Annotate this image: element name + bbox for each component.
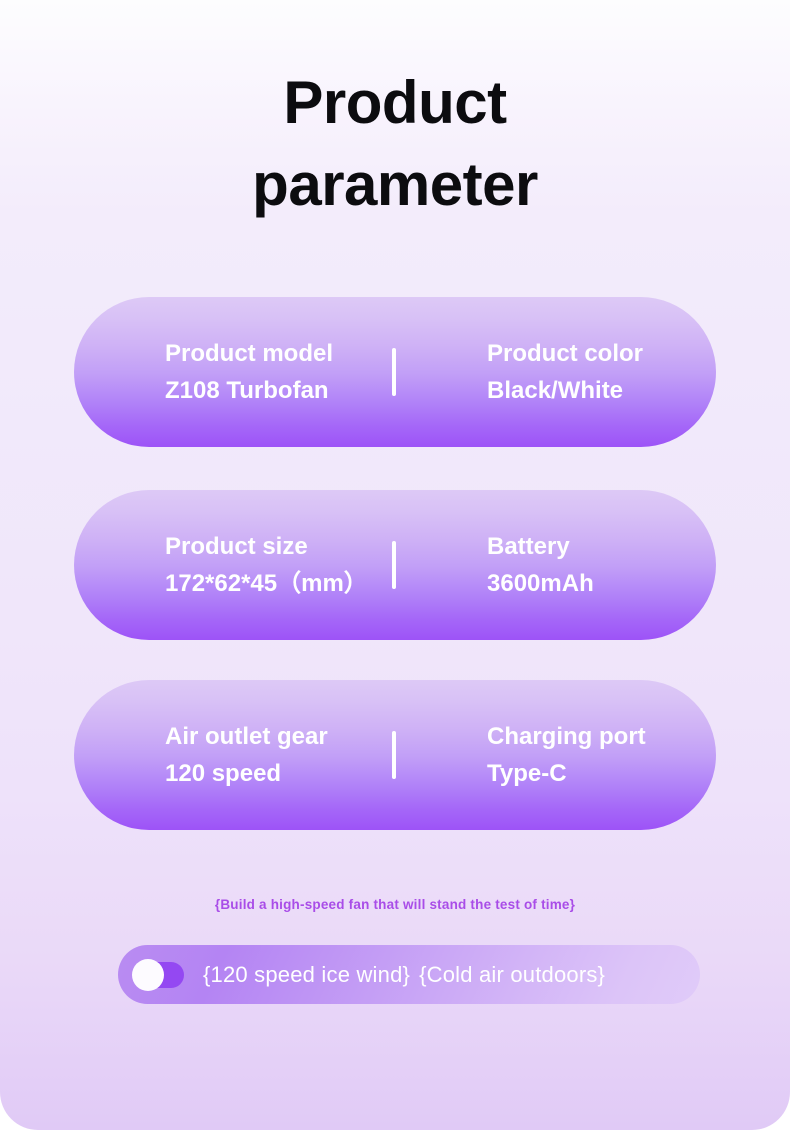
parameter-group-air-outlet-gear: Air outlet gear 120 speed <box>165 718 392 792</box>
parameter-card-2: Product size 172*62*45（mm） Battery 3600m… <box>74 490 716 640</box>
parameter-group-product-model: Product model Z108 Turbofan <box>165 335 392 409</box>
feature-text-2: {Cold air outdoors} <box>419 962 605 987</box>
card-divider-icon <box>392 348 396 396</box>
parameter-card-3: Air outlet gear 120 speed Charging port … <box>74 680 716 830</box>
parameter-group-product-color: Product color Black/White <box>487 335 716 409</box>
feature-toggle-switch[interactable] <box>136 962 184 988</box>
page-title-line-2: parameter <box>0 144 790 226</box>
parameter-group-product-size: Product size 172*62*45（mm） <box>165 528 392 602</box>
tagline: {Build a high-speed fan that will stand … <box>0 897 790 912</box>
card-divider-icon <box>392 731 396 779</box>
toggle-knob-icon <box>132 959 164 991</box>
card-divider-icon <box>392 541 396 589</box>
parameter-label: Product size <box>165 528 392 565</box>
parameter-label: Charging port <box>487 718 716 755</box>
parameter-label: Battery <box>487 528 716 565</box>
parameter-label: Air outlet gear <box>165 718 392 755</box>
parameter-value: Type-C <box>487 755 716 792</box>
parameter-value: Black/White <box>487 372 716 409</box>
parameter-group-battery: Battery 3600mAh <box>487 528 716 602</box>
parameter-value: 172*62*45（mm） <box>165 565 392 602</box>
parameter-value: 3600mAh <box>487 565 716 602</box>
parameter-group-charging-port: Charging port Type-C <box>487 718 716 792</box>
parameter-label: Product color <box>487 335 716 372</box>
parameter-card-1: Product model Z108 Turbofan Product colo… <box>74 297 716 447</box>
feature-text: {120 speed ice wind}{Cold air outdoors} <box>203 962 605 988</box>
feature-pill: {120 speed ice wind}{Cold air outdoors} <box>118 945 700 1004</box>
feature-text-1: {120 speed ice wind} <box>203 962 410 987</box>
parameter-value: Z108 Turbofan <box>165 372 392 409</box>
parameter-value: 120 speed <box>165 755 392 792</box>
page-title: Product parameter <box>0 62 790 226</box>
product-parameter-page: Product parameter Product model Z108 Tur… <box>0 0 790 1130</box>
page-title-line-1: Product <box>0 62 790 144</box>
parameter-label: Product model <box>165 335 392 372</box>
